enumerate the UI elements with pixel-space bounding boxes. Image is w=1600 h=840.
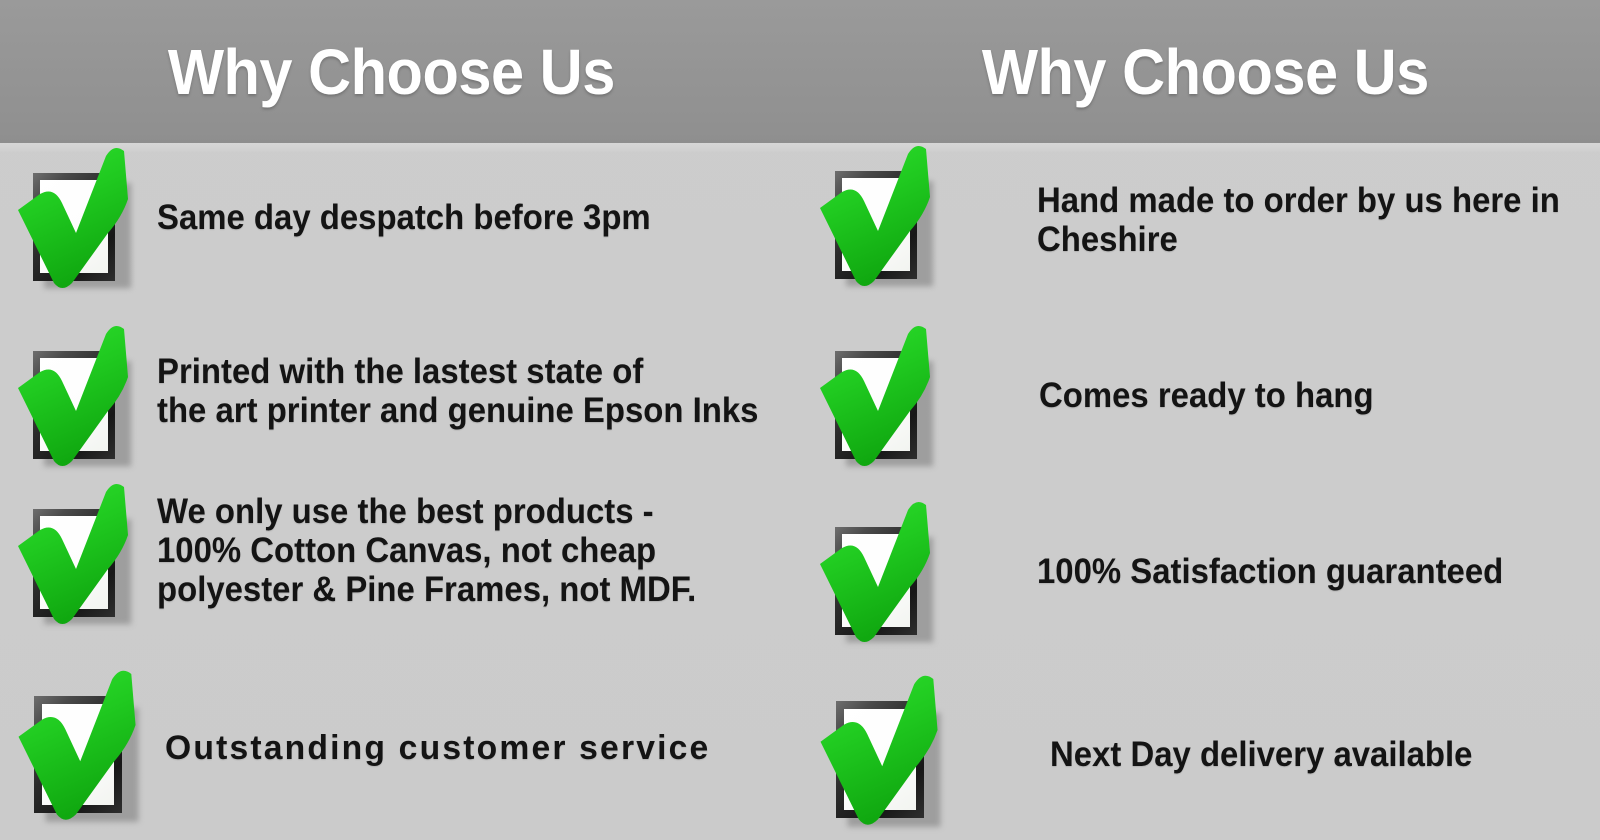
checkmark-glyph — [812, 501, 937, 651]
green-check-box-icon — [10, 483, 135, 633]
feature-label: Same day despatch before 3pm — [157, 199, 651, 238]
feature-label: Next Day delivery available — [1050, 736, 1472, 775]
header-cell-right: Why Choose Us — [800, 0, 1600, 143]
feature-columns: Same day despatch before 3pm — [0, 143, 1600, 840]
checkmark-glyph — [812, 145, 937, 295]
list-item: Hand made to order by us here in Cheshir… — [812, 145, 1593, 295]
header-cell-left: Why Choose Us — [0, 0, 800, 143]
green-check-box-icon — [812, 145, 937, 295]
checkmark-glyph — [10, 147, 135, 297]
list-item: Printed with the lastest state of the ar… — [10, 325, 797, 475]
green-check-box-icon — [812, 325, 937, 475]
green-check-box-icon — [812, 673, 945, 836]
feature-label: 100% Satisfaction guaranteed — [1037, 553, 1503, 592]
list-item: Next Day delivery available — [812, 673, 1499, 836]
page-title-right: Why Choose Us — [981, 35, 1428, 109]
checkmark-glyph — [10, 668, 143, 831]
green-check-box-icon — [10, 147, 135, 297]
feature-column-right: Hand made to order by us here in Cheshir… — [800, 143, 1600, 840]
checkmark-glyph — [10, 325, 135, 475]
why-choose-us-banner: Why Choose Us Why Choose Us — [0, 0, 1600, 840]
feature-label: Comes ready to hang — [1039, 377, 1374, 416]
green-check-box-icon — [10, 668, 143, 831]
feature-label: Hand made to order by us here in Cheshir… — [1037, 182, 1560, 260]
green-check-box-icon — [812, 501, 937, 651]
checkmark-glyph — [10, 483, 135, 633]
page-title-left: Why Choose Us — [167, 35, 614, 109]
list-item: Outstanding customer service — [10, 668, 716, 831]
list-item: We only use the best products - 100% Cot… — [10, 483, 731, 633]
list-item: Same day despatch before 3pm — [10, 147, 682, 297]
feature-label: Printed with the lastest state of the ar… — [157, 353, 758, 431]
header-band: Why Choose Us Why Choose Us — [0, 0, 1600, 143]
feature-column-left: Same day despatch before 3pm — [0, 143, 800, 840]
green-check-box-icon — [10, 325, 135, 475]
feature-label: We only use the best products - 100% Cot… — [157, 493, 696, 610]
feature-label: Outstanding customer service — [165, 730, 710, 768]
checkmark-glyph — [812, 673, 945, 836]
checkmark-glyph — [812, 325, 937, 475]
list-item: Comes ready to hang — [812, 325, 1395, 475]
list-item: 100% Satisfaction guaranteed — [812, 501, 1533, 651]
